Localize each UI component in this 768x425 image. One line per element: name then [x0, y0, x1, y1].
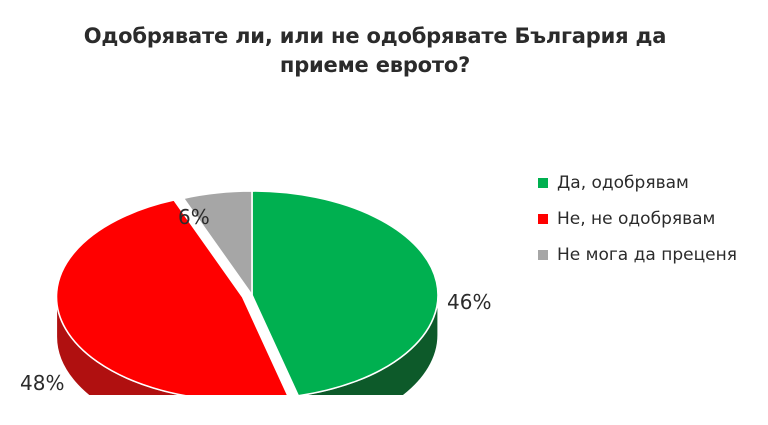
legend-item-green[interactable]: Да, одобрявам	[538, 165, 763, 201]
legend-item-gray[interactable]: Не мога да преценя	[538, 237, 763, 273]
pie-value-label-gray: 6%	[178, 205, 210, 229]
legend-label-gray: Не мога да преценя	[557, 245, 737, 265]
pie-svg	[0, 95, 520, 395]
pie-chart-figure: Одобрявате ли, или не одобрявате Българи…	[0, 0, 768, 425]
legend-label-red: Не, не одобрявам	[557, 209, 715, 229]
legend-item-red[interactable]: Не, не одобрявам	[538, 201, 763, 237]
chart-title: Одобрявате ли, или не одобрявате Българи…	[40, 22, 710, 80]
legend-label-green: Да, одобрявам	[557, 173, 689, 193]
pie-plot-area: 6% 46% 48%	[0, 95, 520, 395]
legend-swatch-gray-icon	[538, 250, 548, 260]
pie-value-label-green: 46%	[447, 290, 491, 314]
legend-swatch-green-icon	[538, 178, 548, 188]
pie-value-label-red: 48%	[20, 371, 64, 395]
legend-swatch-red-icon	[538, 214, 548, 224]
chart-legend: Да, одобрявам Не, не одобрявам Не мога д…	[538, 165, 763, 273]
